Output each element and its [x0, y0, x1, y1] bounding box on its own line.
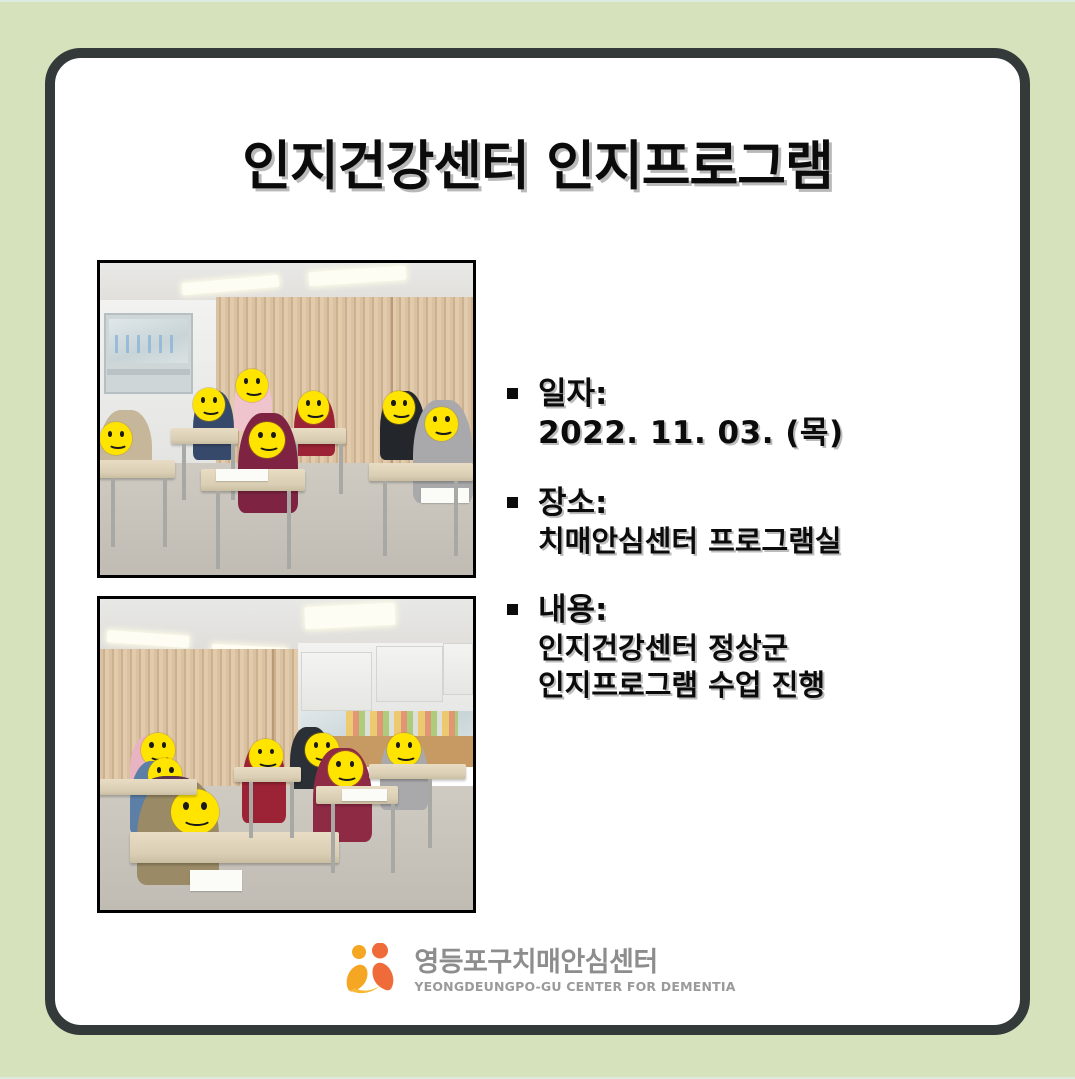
desk-leg [163, 478, 167, 547]
window-blind [376, 646, 443, 702]
square-bullet-icon [507, 497, 518, 508]
info-label-place: 장소: [538, 485, 607, 523]
desk [287, 428, 347, 444]
desk-leg [249, 782, 253, 838]
desk-leg [428, 779, 432, 847]
info-value-content-line2: 인지프로그램 수업 진행 [538, 667, 987, 704]
smiley-face-sticker [425, 407, 459, 441]
logo-text-english: YEONGDEUNGPO-GU CENTER FOR DEMENTIA [414, 981, 735, 994]
square-bullet-icon [507, 604, 518, 615]
dementia-center-logo-icon [339, 943, 401, 999]
square-bullet-icon [507, 388, 518, 399]
desk [171, 428, 238, 444]
desk-leg [339, 444, 343, 494]
logo-text: 영등포구치매안심센터 YEONGDEUNGPO-GU CENTER FOR DE… [414, 949, 735, 994]
info-head-date: 일자: [507, 376, 987, 414]
info-head-place: 장소: [507, 485, 987, 523]
smiley-face-sticker [249, 422, 284, 458]
desk-leg [287, 491, 291, 569]
window-decorations [115, 335, 178, 354]
smiley-face-sticker [387, 733, 421, 767]
smiley-face-sticker [328, 751, 363, 787]
smiley-face-sticker [298, 391, 330, 424]
info-group-content: 내용: 인지건강센터 정상군 인지프로그램 수업 진행 [507, 592, 987, 704]
desk-leg [182, 444, 186, 500]
classroom-photo-bottom [97, 596, 476, 913]
worksheet [342, 789, 387, 801]
smiley-face-sticker [193, 388, 225, 421]
desk [130, 832, 339, 863]
info-value-content-line1: 인지건강센터 정상군 [538, 630, 987, 667]
window-ledge [107, 369, 189, 375]
desk [369, 463, 473, 482]
smiley-face-sticker [383, 391, 415, 424]
footer-logo: 영등포구치매안심센터 YEONGDEUNGPO-GU CENTER FOR DE… [55, 943, 1020, 999]
info-list: 일자: 2022. 11. 03. (목) 장소: 치매안심센터 프로그램실 내… [507, 376, 987, 704]
desk-leg [331, 804, 335, 872]
desk-leg [391, 804, 395, 872]
smiley-face-sticker [236, 369, 268, 402]
desk [369, 764, 466, 780]
info-group-place: 장소: 치매안심센터 프로그램실 [507, 485, 987, 560]
worksheet [421, 488, 469, 504]
window-blind [443, 643, 473, 696]
worksheet [216, 469, 268, 481]
desk-leg [454, 481, 458, 556]
desk [100, 779, 197, 795]
page-title: 인지건강센터 인지프로그램 [55, 124, 1020, 200]
desk [234, 767, 301, 783]
classroom-photo-top [97, 260, 476, 578]
info-value-date: 2022. 11. 03. (목) [538, 414, 987, 454]
photo-bottom-scene [100, 599, 473, 910]
smiley-face-sticker [100, 422, 132, 455]
info-group-date: 일자: 2022. 11. 03. (목) [507, 376, 987, 453]
poster-card: 인지건강센터 인지프로그램 [45, 48, 1030, 1035]
top-edge-hairline [0, 0, 1075, 2]
desk [100, 460, 175, 479]
logo-text-korean: 영등포구치매안심센터 [414, 949, 735, 976]
info-label-content: 내용: [538, 592, 607, 630]
desk-leg [383, 481, 387, 556]
window-blind [301, 652, 372, 711]
info-head-content: 내용: [507, 592, 987, 630]
info-label-date: 일자: [538, 376, 607, 414]
info-value-place: 치매안심센터 프로그램실 [538, 523, 987, 560]
photo-top-scene [100, 263, 473, 575]
worksheet [190, 870, 242, 892]
desk-leg [111, 478, 115, 547]
desk-leg [290, 782, 294, 838]
desk-leg [216, 491, 220, 569]
